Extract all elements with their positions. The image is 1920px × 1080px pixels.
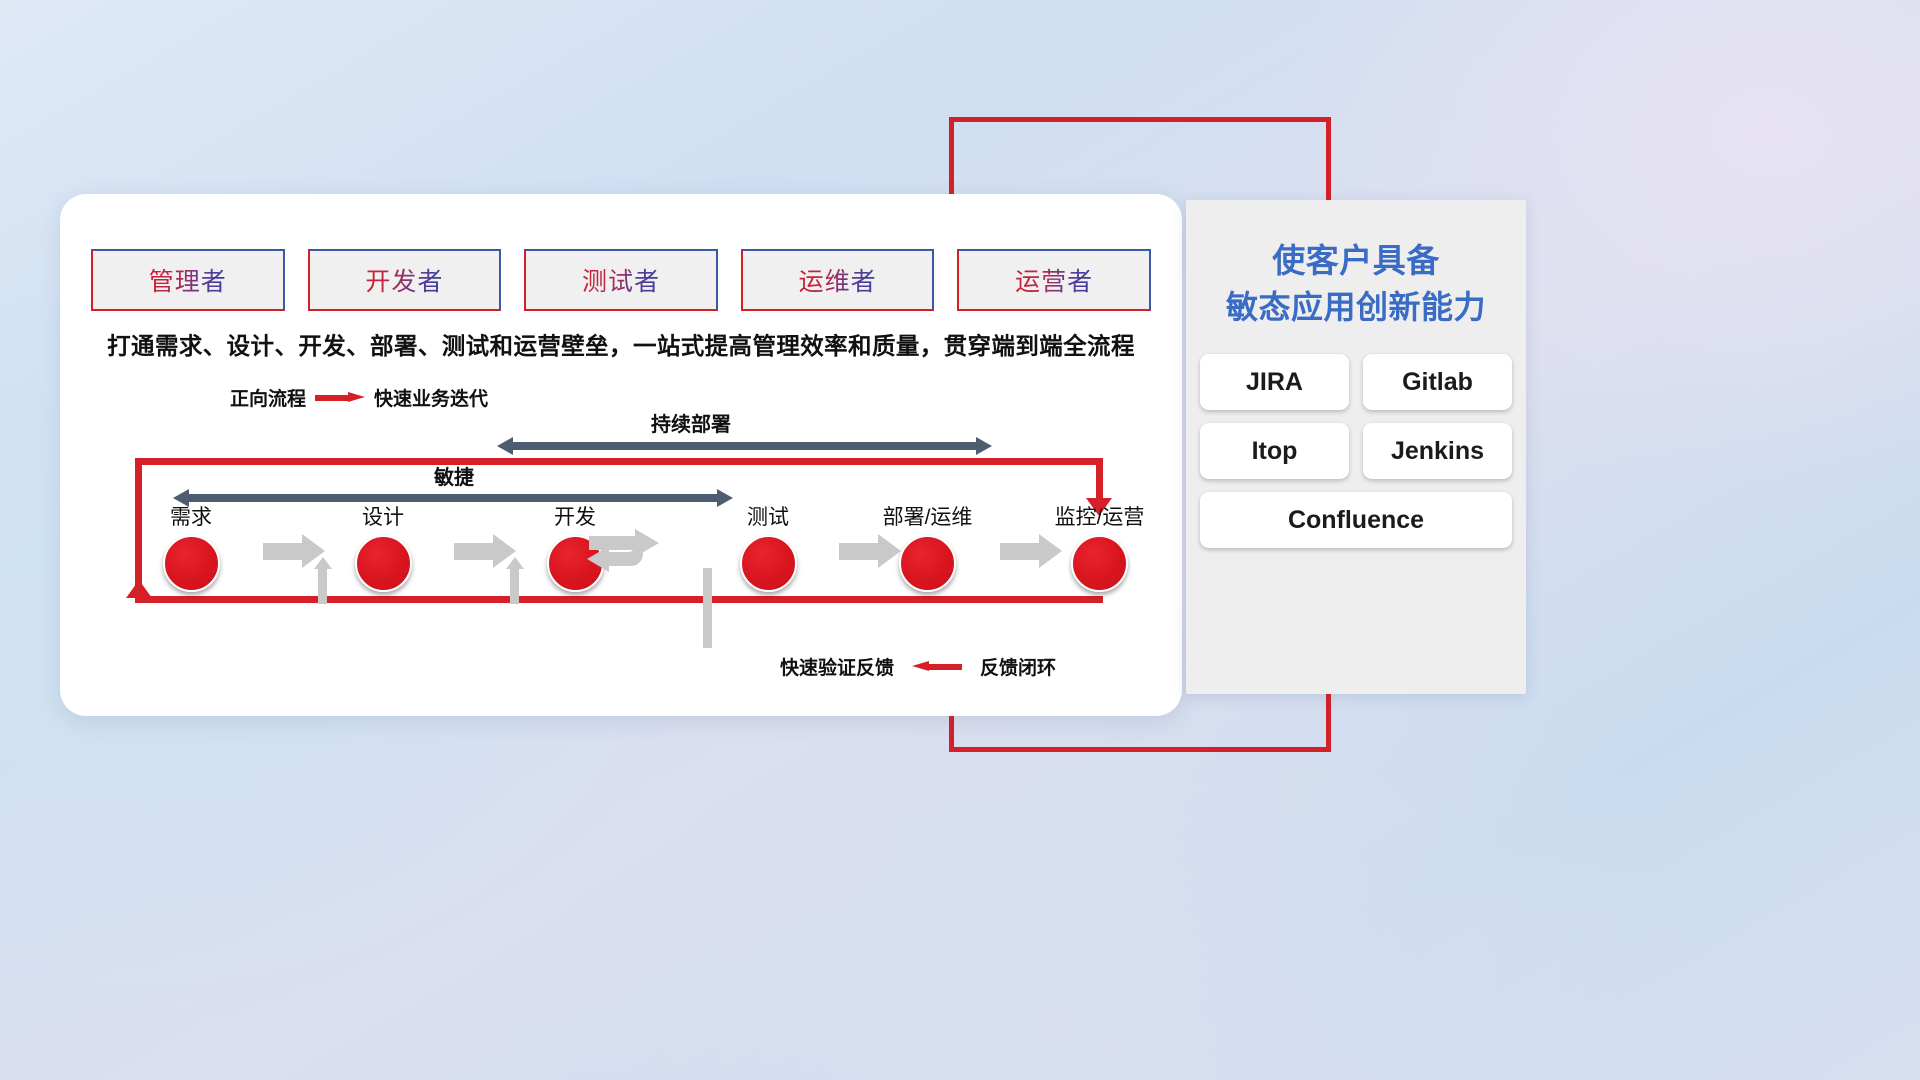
role-box-operations-engineer[interactable]: 运维者 (741, 249, 935, 311)
feedback-source-label: 反馈闭环 (980, 653, 1056, 680)
pipeline-stage-design[interactable]: 设计 (323, 501, 443, 592)
tool-button-confluence[interactable]: Confluence (1200, 492, 1512, 548)
slide-canvas: 管理者 开发者 测试者 运维者 运营者 打通需求、设计、开发、部署、测试和运营壁… (0, 0, 1920, 1080)
role-box-developer[interactable]: 开发者 (308, 249, 502, 311)
role-label: 开发者 (365, 262, 443, 298)
red-arrow-right-icon (315, 392, 365, 403)
stage-label: 需求 (131, 501, 251, 531)
red-arrow-left-icon (912, 661, 962, 672)
agile-double-arrow-icon (173, 489, 733, 507)
feedback-result-label: 快速验证反馈 (780, 653, 894, 680)
stage-label: 测试 (708, 501, 828, 531)
role-label: 管理者 (149, 262, 227, 298)
tool-button-jira[interactable]: JIRA (1200, 354, 1349, 410)
inner-loop-right-segment (1096, 458, 1103, 502)
outer-loop-top-segment (949, 117, 1331, 122)
stage-dot-icon (899, 535, 956, 592)
grey-arrow-icon-1 (263, 534, 325, 568)
panel-heading-line2: 敏态应用创新能力 (1200, 285, 1512, 330)
feedback-caption: 快速验证反馈 反馈闭环 (780, 653, 1056, 680)
role-box-business-operator[interactable]: 运营者 (957, 249, 1151, 311)
stage-label: 设计 (323, 501, 443, 531)
role-box-tester[interactable]: 测试者 (524, 249, 718, 311)
panel-heading-line1: 使客户具备 (1200, 238, 1512, 285)
description-text: 打通需求、设计、开发、部署、测试和运营壁垒，一站式提高管理效率和质量，贯穿端到端… (60, 327, 1182, 361)
stage-dot-icon (355, 535, 412, 592)
forward-flow-caption: 正向流程 快速业务迭代 (230, 384, 488, 411)
stage-label: 部署/运维 (840, 501, 1015, 531)
pipeline-stage-monitor-operate[interactable]: 监控/运营 (1012, 501, 1187, 592)
tool-button-gitlab[interactable]: Gitlab (1363, 354, 1512, 410)
pipeline-stage-deploy-ops[interactable]: 部署/运维 (840, 501, 1015, 592)
forward-flow-from-label: 正向流程 (230, 384, 306, 411)
tool-button-jenkins[interactable]: Jenkins (1363, 423, 1512, 479)
recycle-loop-icon (579, 526, 665, 582)
outer-loop-bottom-segment (949, 747, 1331, 752)
stage-label: 监控/运营 (1012, 501, 1187, 531)
stage-dot-icon (740, 535, 797, 592)
stage-dot-icon (163, 535, 220, 592)
role-label: 运维者 (799, 262, 877, 298)
role-box-row: 管理者 开发者 测试者 运维者 运营者 (91, 249, 1151, 311)
main-content-card: 管理者 开发者 测试者 运维者 运营者 打通需求、设计、开发、部署、测试和运营壁… (60, 194, 1182, 716)
continuous-deployment-caption: 持续部署 (651, 408, 731, 437)
tool-button-itop[interactable]: Itop (1200, 423, 1349, 479)
pipeline-stage-test[interactable]: 测试 (708, 501, 828, 592)
continuous-deployment-double-arrow-icon (497, 437, 992, 455)
stage-dot-icon (1071, 535, 1128, 592)
pipeline-stage-requirement[interactable]: 需求 (131, 501, 251, 592)
grey-arrow-icon-2 (454, 534, 516, 568)
forward-flow-to-label: 快速业务迭代 (374, 384, 488, 411)
inner-loop-bottom-segment (135, 596, 1103, 603)
inner-loop-top-segment (135, 458, 1103, 465)
agile-caption: 敏捷 (434, 461, 474, 490)
role-label: 测试者 (582, 262, 660, 298)
tool-button-grid: JIRA Gitlab Itop Jenkins Confluence (1200, 354, 1512, 548)
capability-panel: 使客户具备 敏态应用创新能力 JIRA Gitlab Itop Jenkins … (1186, 200, 1526, 694)
role-label: 运营者 (1015, 262, 1093, 298)
role-box-manager[interactable]: 管理者 (91, 249, 285, 311)
